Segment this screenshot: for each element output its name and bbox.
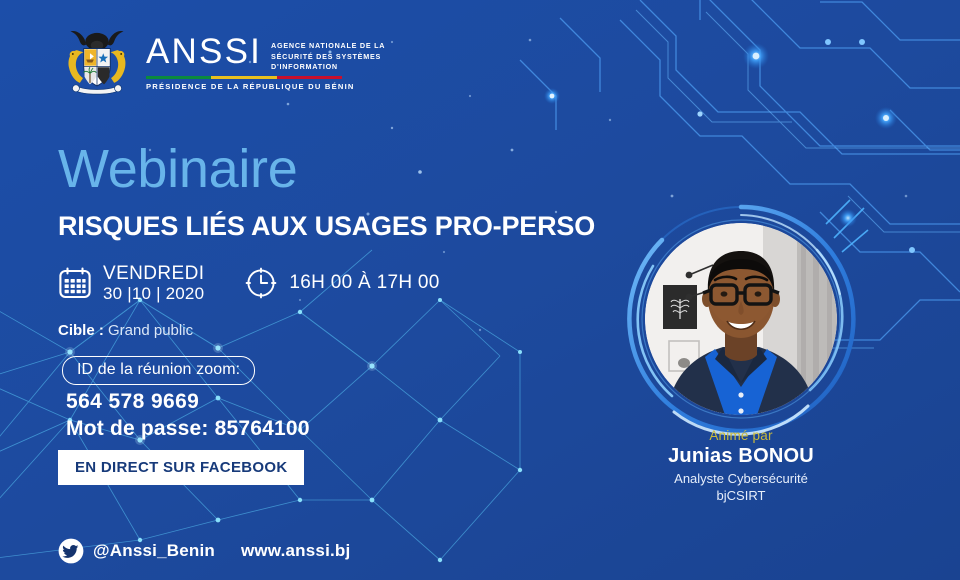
anssi-logo-header: ANSSI AGENCE NATIONALE DE LA SÉCURITÉ DE… [58,22,385,100]
speaker-role-line1: Analyste Cybersécurité [612,471,870,488]
event-date-value: 30 |10 | 2020 [103,285,204,303]
speaker-photo [645,223,837,415]
benin-coat-of-arms-icon [58,22,136,100]
website-url[interactable]: www.anssi.bj [241,541,350,561]
event-time-value: 16H 00 À 17H 00 [289,272,439,294]
facebook-live-button[interactable]: EN DIRECT SUR FACEBOOK [58,450,304,485]
event-time: 16H 00 À 17H 00 [244,266,439,300]
event-weekday: VENDREDI [103,264,204,285]
webinar-poster: ANSSI AGENCE NATIONALE DE LA SÉCURITÉ DE… [0,0,960,580]
footer: @Anssi_Benin www.anssi.bj [58,538,350,564]
page-title: RISQUES LIÉS AUX USAGES PRO-PERSO [58,212,595,242]
speaker-portrait-block [612,190,870,448]
anssi-agency-name: AGENCE NATIONALE DE LA SÉCURITÉ DES SYST… [271,35,385,72]
speaker-role: Analyste Cybersécurité bjCSIRT [612,471,870,504]
benin-flag-divider [146,76,342,79]
zoom-password: Mot de passe: 85764100 [66,417,310,441]
anssi-acronym: ANSSI [146,35,262,69]
speaker-role-line2: bjCSIRT [612,488,870,505]
zoom-meeting-id-value: 564 578 9669 [66,390,199,414]
twitter-link[interactable]: @Anssi_Benin [58,538,215,564]
presidency-line: PRÉSIDENCE DE LA RÉPUBLIQUE DU BÉNIN [146,82,385,91]
speaker-name: Junias BONOU [612,445,870,468]
page-kicker: Webinaire [58,142,297,196]
presented-by-label: Animé par [612,428,870,443]
twitter-handle: @Anssi_Benin [93,541,215,561]
audience-label: Cible : [58,322,104,339]
audience-value: Grand public [108,322,193,339]
speaker-info: Animé par Junias BONOU Analyste Cyberséc… [612,428,870,504]
clock-icon [244,266,278,300]
twitter-bird-icon [58,538,84,564]
calendar-icon [58,266,92,300]
zoom-meeting-id-label: ID de la réunion zoom: [62,356,255,385]
audience-line: Cible : Grand public [58,322,193,339]
event-meta-row: VENDREDI 30 |10 | 2020 16H 00 À 17H 00 [58,264,440,303]
event-date: VENDREDI 30 |10 | 2020 [58,264,204,303]
